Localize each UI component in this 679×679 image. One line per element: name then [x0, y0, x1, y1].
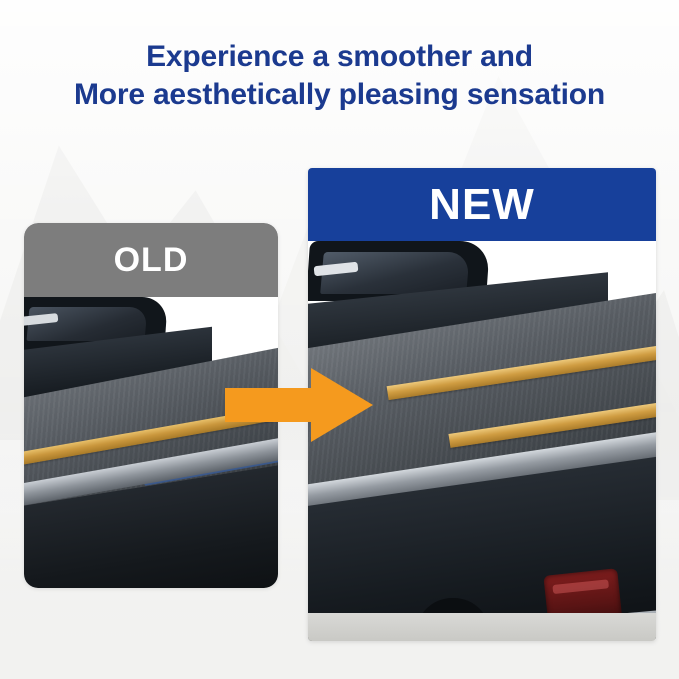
new-badge-label: NEW [429, 180, 535, 230]
headline: Experience a smoother and More aesthetic… [0, 38, 679, 114]
headline-line-2: More aesthetically pleasing sensation [0, 76, 679, 114]
product-comparison-image: Experience a smoother and More aesthetic… [0, 0, 679, 679]
new-badge: NEW [308, 168, 656, 241]
old-badge: OLD [24, 223, 278, 297]
headline-line-1: Experience a smoother and [0, 38, 679, 76]
new-photo-ground [308, 613, 656, 641]
old-badge-label: OLD [114, 241, 189, 280]
right-arrow-icon [225, 368, 373, 442]
